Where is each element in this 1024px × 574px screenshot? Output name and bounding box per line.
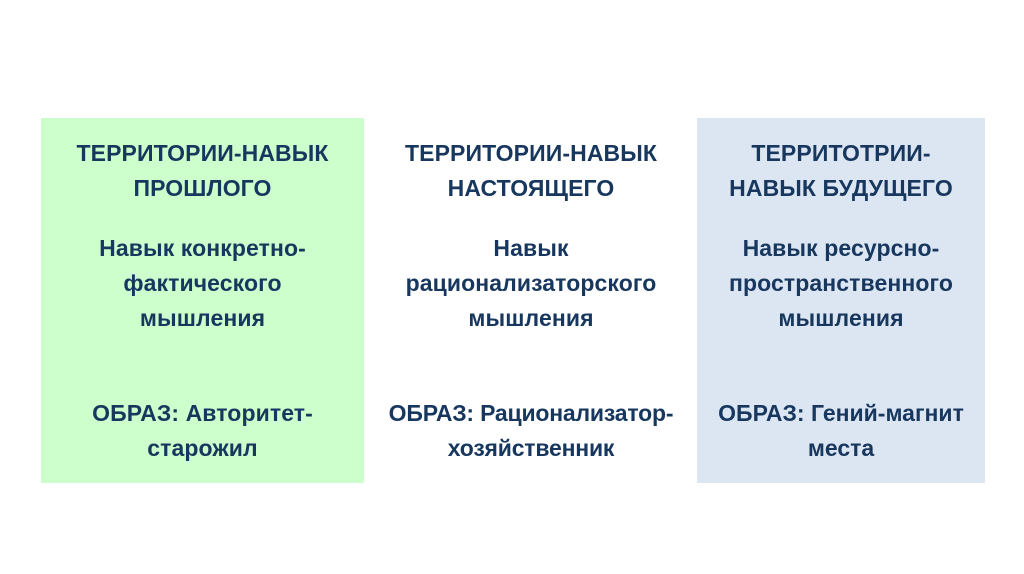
column-past-image-line-2: старожил bbox=[41, 431, 364, 466]
column-present: ТЕРРИТОРИИ-НАВЫК НАСТОЯЩЕГО Навык рацион… bbox=[370, 118, 692, 483]
column-present-skill-line-2: рационализаторского bbox=[370, 266, 692, 301]
column-past-skill-line-1: Навык конкретно- bbox=[41, 231, 364, 266]
column-past-header-line-1: ТЕРРИТОРИИ-НАВЫК bbox=[41, 136, 364, 171]
column-past: ТЕРРИТОРИИ-НАВЫК ПРОШЛОГО Навык конкретн… bbox=[41, 118, 364, 483]
column-past-header-line-2: ПРОШЛОГО bbox=[41, 171, 364, 206]
column-present-image-line-2: хозяйственник bbox=[370, 431, 692, 466]
column-present-image: ОБРАЗ: Рационализатор- хозяйственник bbox=[370, 396, 692, 466]
column-future-header: ТЕРРИТОТРИИ- НАВЫК БУДУЩЕГО bbox=[697, 136, 985, 206]
column-past-skill-line-3: мышления bbox=[41, 301, 364, 336]
column-present-skill-line-1: Навык bbox=[370, 231, 692, 266]
column-past-skill: Навык конкретно- фактического мышления bbox=[41, 231, 364, 336]
column-future: ТЕРРИТОТРИИ- НАВЫК БУДУЩЕГО Навык ресурс… bbox=[697, 118, 985, 483]
column-future-image: ОБРАЗ: Гений-магнит места bbox=[697, 396, 985, 466]
column-present-skill-line-3: мышления bbox=[370, 301, 692, 336]
column-future-skill-line-3: мышления bbox=[697, 301, 985, 336]
column-present-header: ТЕРРИТОРИИ-НАВЫК НАСТОЯЩЕГО bbox=[370, 136, 692, 206]
column-present-header-line-1: ТЕРРИТОРИИ-НАВЫК bbox=[370, 136, 692, 171]
column-past-header: ТЕРРИТОРИИ-НАВЫК ПРОШЛОГО bbox=[41, 136, 364, 206]
column-future-header-line-2: НАВЫК БУДУЩЕГО bbox=[697, 171, 985, 206]
column-future-skill-line-1: Навык ресурсно- bbox=[697, 231, 985, 266]
column-past-image-line-1: ОБРАЗ: Авторитет- bbox=[41, 396, 364, 431]
column-past-skill-line-2: фактического bbox=[41, 266, 364, 301]
slide-canvas: ТЕРРИТОРИИ-НАВЫК ПРОШЛОГО Навык конкретн… bbox=[0, 0, 1024, 574]
column-past-image: ОБРАЗ: Авторитет- старожил bbox=[41, 396, 364, 466]
column-present-skill: Навык рационализаторского мышления bbox=[370, 231, 692, 336]
column-future-header-line-1: ТЕРРИТОТРИИ- bbox=[697, 136, 985, 171]
column-future-skill-line-2: пространственного bbox=[697, 266, 985, 301]
column-future-image-line-1: ОБРАЗ: Гений-магнит bbox=[697, 396, 985, 431]
column-future-skill: Навык ресурсно- пространственного мышлен… bbox=[697, 231, 985, 336]
column-future-image-line-2: места bbox=[697, 431, 985, 466]
column-present-image-line-1: ОБРАЗ: Рационализатор- bbox=[370, 396, 692, 431]
column-present-header-line-2: НАСТОЯЩЕГО bbox=[370, 171, 692, 206]
